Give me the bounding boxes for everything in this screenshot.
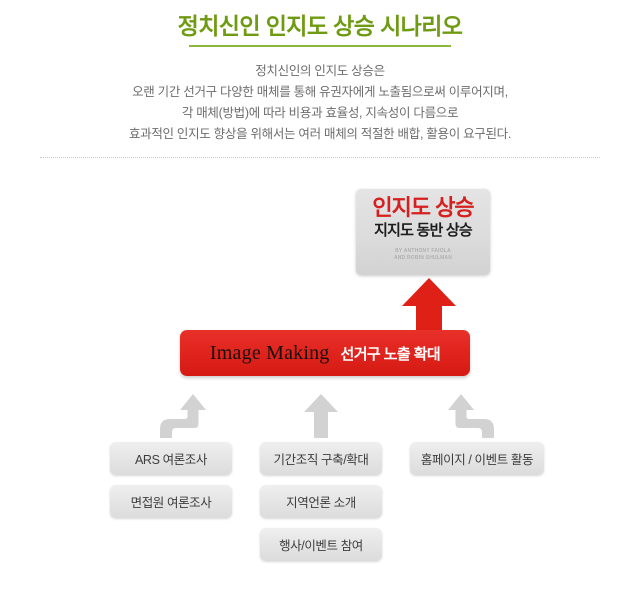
straight-arrow-up-icon xyxy=(304,394,338,438)
up-arrow-icon xyxy=(402,278,456,334)
result-credit: BY ANTHONY FAIOLA AND ROBIN SHULMAN xyxy=(394,248,452,262)
banner-english-label: Image Making xyxy=(210,342,330,365)
elbow-arrow-up-left-icon xyxy=(448,394,494,438)
list-item[interactable]: 기간조직 구축/확대 xyxy=(260,442,382,475)
result-headline: 인지도 상승 xyxy=(372,196,473,220)
banner-korean-label: 선거구 노출 확대 xyxy=(341,343,441,364)
result-credit-line-1: BY ANTHONY FAIOLA xyxy=(394,248,452,255)
list-item[interactable]: 행사/이벤트 참여 xyxy=(260,528,382,561)
image-making-banner: Image Making 선거구 노출 확대 xyxy=(180,330,470,376)
result-credit-line-2: AND ROBIN SHULMAN xyxy=(394,255,452,262)
elbow-arrow-up-right-icon xyxy=(160,394,206,438)
result-box: 인지도 상승 지지도 동반 상승 BY ANTHONY FAIOLA AND R… xyxy=(356,189,490,275)
list-item[interactable]: ARS 여론조사 xyxy=(110,442,232,475)
list-item[interactable]: 면접원 여론조사 xyxy=(110,485,232,518)
list-item[interactable]: 홈페이지 / 이벤트 활동 xyxy=(410,442,544,475)
result-subline: 지지도 동반 상승 xyxy=(374,222,472,241)
list-item[interactable]: 지역언론 소개 xyxy=(260,485,382,518)
scenario-diagram: 인지도 상승 지지도 동반 상승 BY ANTHONY FAIOLA AND R… xyxy=(0,0,640,612)
